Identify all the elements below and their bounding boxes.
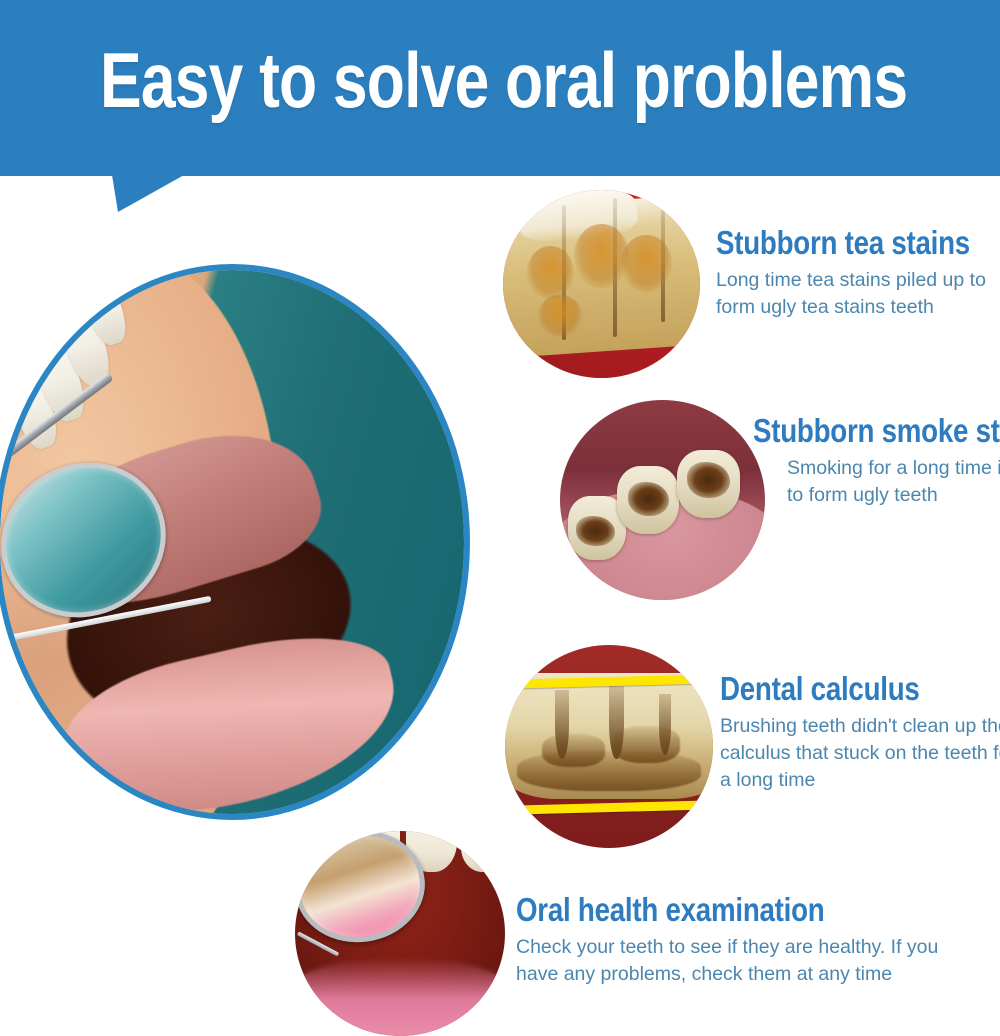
page-title: Easy to solve oral problems	[100, 34, 900, 126]
callout-body: Smoking for a long time is easy to form …	[787, 455, 1000, 509]
callout-body-line: calculus that stuck on the teeth for	[720, 740, 1000, 767]
callout-title: Stubborn tea stains	[716, 226, 960, 260]
callout-tea-stains: Stubborn tea stains Long time tea stains…	[716, 226, 1000, 321]
callout-body-line: form ugly tea stains teeth	[716, 294, 1000, 321]
speech-bubble-tail-icon	[112, 175, 184, 212]
photo-oral-health-examination	[295, 831, 505, 1036]
header-banner: Easy to solve oral problems	[0, 0, 1000, 176]
hero-photo-mouth-examination	[0, 264, 470, 820]
callout-dental-calculus: Dental calculus Brushing teeth didn't cl…	[720, 672, 1000, 794]
front-tooth	[461, 831, 505, 872]
callout-body: Long time tea stains piled up to form ug…	[716, 267, 1000, 321]
smoke-stain	[687, 462, 730, 498]
callout-body-line: Check your teeth to see if they are heal…	[516, 934, 986, 961]
callout-body-line: have any problems, check them at any tim…	[516, 961, 986, 988]
callout-oral-exam: Oral health examination Check your teeth…	[516, 893, 986, 988]
callout-smoke-stains: Stubborn smoke stains Smoking for a long…	[753, 414, 1000, 509]
tea-stain	[538, 295, 581, 336]
callout-title: Stubborn smoke stains	[753, 414, 963, 448]
photo-dental-calculus	[505, 645, 713, 848]
callout-body-line: Brushing teeth didn't clean up the	[720, 713, 1000, 740]
photo-tea-stained-teeth	[503, 190, 700, 378]
callout-body-line: a long time	[720, 767, 1000, 794]
tartar-deposit	[613, 726, 680, 763]
smoke-stain	[628, 482, 669, 516]
smoke-stain	[576, 516, 615, 546]
tea-stain	[527, 246, 574, 299]
callout-body: Brushing teeth didn't clean up the calcu…	[720, 713, 1000, 794]
callout-body-line: Long time tea stains piled up to	[716, 267, 1000, 294]
oral-floor-tissue	[295, 958, 505, 1036]
tea-stain	[621, 235, 672, 291]
callout-title: Oral health examination	[516, 893, 911, 927]
callout-title: Dental calculus	[720, 672, 959, 706]
callout-body-line: to form ugly teeth	[787, 482, 1000, 509]
photo-smoke-stained-teeth	[560, 400, 765, 600]
callout-body-line: Smoking for a long time is easy	[787, 455, 1000, 482]
callout-body: Check your teeth to see if they are heal…	[516, 934, 986, 988]
tartar-deposit	[542, 734, 604, 766]
